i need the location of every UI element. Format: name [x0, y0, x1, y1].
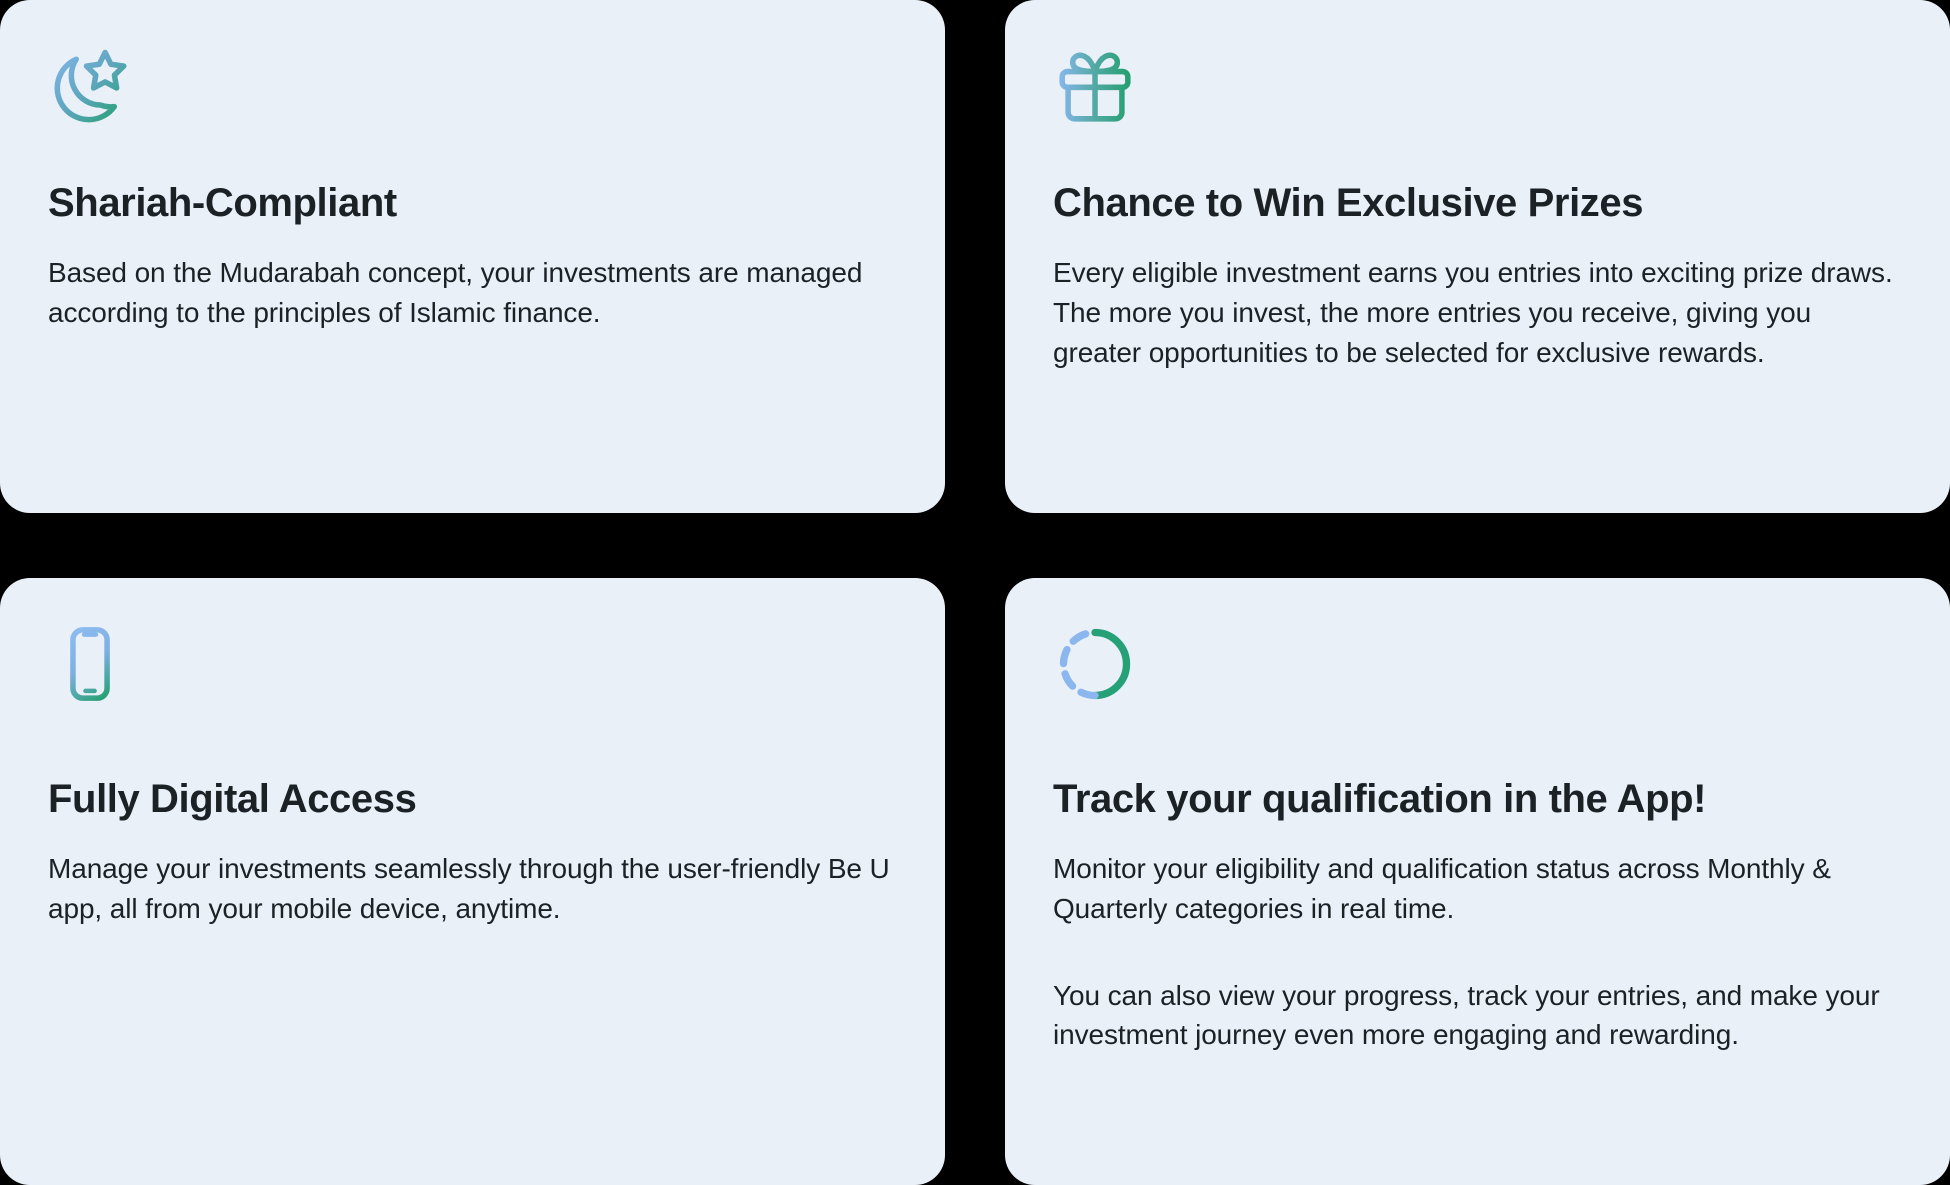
feature-card-shariah-compliant[interactable]: Shariah-Compliant Based on the Mudarabah…	[0, 0, 945, 513]
card-body-paragraph: You can also view your progress, track y…	[1053, 976, 1902, 1056]
card-body-paragraph: Based on the Mudarabah concept, your inv…	[48, 253, 897, 333]
card-title: Track your qualification in the App!	[1053, 776, 1706, 823]
card-body-paragraph: Every eligible investment earns you entr…	[1053, 253, 1902, 372]
gift-icon	[1053, 44, 1137, 128]
card-title: Shariah-Compliant	[48, 180, 397, 227]
card-title: Chance to Win Exclusive Prizes	[1053, 180, 1643, 227]
crescent-moon-star-icon	[48, 44, 132, 128]
feature-card-grid: Shariah-Compliant Based on the Mudarabah…	[0, 0, 1950, 1185]
card-body-paragraph: Manage your investments seamlessly throu…	[48, 849, 897, 929]
mobile-phone-icon	[48, 622, 132, 706]
feature-card-digital-access[interactable]: Fully Digital Access Manage your investm…	[0, 578, 945, 1185]
card-title: Fully Digital Access	[48, 776, 416, 823]
circular-progress-icon	[1053, 622, 1137, 706]
feature-card-track-qualification[interactable]: Track your qualification in the App! Mon…	[1005, 578, 1950, 1185]
feature-card-exclusive-prizes[interactable]: Chance to Win Exclusive Prizes Every eli…	[1005, 0, 1950, 513]
card-body-paragraph: Monitor your eligibility and qualificati…	[1053, 849, 1902, 929]
